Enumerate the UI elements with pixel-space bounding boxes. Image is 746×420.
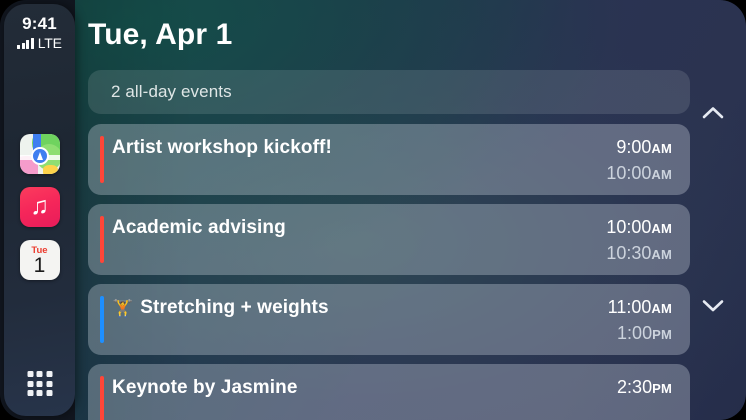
event-title: Artist workshop kickoff! bbox=[112, 137, 332, 159]
list-item[interactable]: Keynote by Jasmine 2:30PM bbox=[88, 364, 690, 420]
event-title-group: Academic advising bbox=[112, 217, 286, 239]
music-note-icon[interactable]: ♫ bbox=[20, 187, 60, 227]
all-day-events-row[interactable]: 2 all-day events bbox=[88, 70, 690, 114]
event-end-time: 10:00AM bbox=[606, 161, 672, 187]
event-title: Keynote by Jasmine bbox=[112, 377, 298, 399]
event-time-group: 9:00AM 10:00AM bbox=[606, 135, 672, 187]
event-end-time: 10:30AM bbox=[606, 241, 672, 267]
page-title: Tue, Apr 1 bbox=[88, 18, 232, 52]
event-start-time-value: 9:00 bbox=[616, 137, 651, 157]
event-start-time-value: 2:30 bbox=[617, 377, 652, 397]
event-title-group: 🏋️ Stretching + weights bbox=[112, 297, 329, 319]
status-clock: 9:41 bbox=[22, 14, 57, 34]
event-title-group: Keynote by Jasmine bbox=[112, 377, 298, 399]
list-item[interactable]: Academic advising 10:00AM 10:30AM bbox=[88, 204, 690, 275]
event-start-time-value: 11:00 bbox=[608, 297, 652, 317]
event-start-meridiem: AM bbox=[651, 301, 672, 316]
calendar-main-panel: Tue, Apr 1 2 all-day events Artist works… bbox=[75, 0, 746, 420]
event-start-time: 10:00AM bbox=[606, 215, 672, 241]
status-bar: 9:41 LTE bbox=[4, 14, 75, 49]
event-start-meridiem: AM bbox=[651, 141, 672, 156]
event-end-time-value: 10:00 bbox=[606, 163, 651, 183]
event-color-bar bbox=[100, 216, 104, 263]
event-end-time-value: 10:30 bbox=[606, 243, 651, 263]
event-end-meridiem: PM bbox=[652, 327, 672, 342]
event-color-bar bbox=[100, 296, 104, 343]
all-day-events-label: 2 all-day events bbox=[111, 82, 232, 102]
event-start-time: 2:30PM bbox=[617, 375, 672, 401]
calendar-icon-day: 1 bbox=[34, 255, 46, 277]
event-color-bar bbox=[100, 376, 104, 420]
cellular-bars-icon bbox=[17, 37, 34, 49]
chevron-down-icon[interactable] bbox=[696, 288, 730, 322]
status-signal: LTE bbox=[17, 37, 62, 49]
event-emoji: 🏋️ bbox=[112, 300, 133, 317]
app-grid-icon[interactable] bbox=[27, 371, 52, 396]
calendar-icon[interactable]: Tue 1 bbox=[20, 240, 60, 280]
event-list[interactable]: 2 all-day events Artist workshop kickoff… bbox=[88, 70, 690, 420]
event-title-group: Artist workshop kickoff! bbox=[112, 137, 332, 159]
event-start-time-value: 10:00 bbox=[606, 217, 651, 237]
event-title: Academic advising bbox=[112, 217, 286, 239]
maps-icon[interactable] bbox=[20, 134, 60, 174]
event-end-time-value: 1:00 bbox=[617, 323, 652, 343]
sidebar-app-list: ♫ Tue 1 bbox=[4, 134, 75, 280]
event-start-meridiem: PM bbox=[652, 381, 672, 396]
list-item[interactable]: 🏋️ Stretching + weights 11:00AM 1:00PM bbox=[88, 284, 690, 355]
event-end-meridiem: AM bbox=[651, 247, 672, 262]
carplay-screen: 9:41 LTE ♫ Tue bbox=[0, 0, 746, 420]
event-end-time: 1:00PM bbox=[617, 321, 672, 347]
list-item[interactable]: Artist workshop kickoff! 9:00AM 10:00AM bbox=[88, 124, 690, 195]
event-color-bar bbox=[100, 136, 104, 183]
event-time-group: 10:00AM 10:30AM bbox=[606, 215, 672, 267]
event-time-group: 2:30PM bbox=[617, 375, 672, 401]
event-title: Stretching + weights bbox=[140, 297, 328, 319]
music-glyph: ♫ bbox=[30, 194, 49, 219]
network-type-label: LTE bbox=[38, 37, 62, 49]
event-time-group: 11:00AM 1:00PM bbox=[608, 295, 672, 347]
event-start-time: 9:00AM bbox=[616, 135, 672, 161]
sidebar: 9:41 LTE ♫ Tue bbox=[4, 4, 75, 416]
event-end-meridiem: AM bbox=[651, 167, 672, 182]
event-start-time: 11:00AM bbox=[608, 295, 672, 321]
event-start-meridiem: AM bbox=[651, 221, 672, 236]
chevron-up-icon[interactable] bbox=[696, 95, 730, 129]
